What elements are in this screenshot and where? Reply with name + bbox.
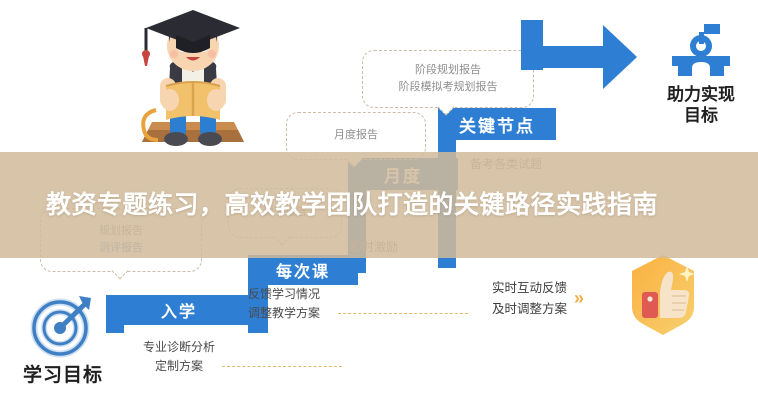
arrow-horizontal-shaft (521, 46, 603, 68)
graduate-student-reading-book-icon (118, 2, 268, 154)
note-dash-each-class (338, 313, 468, 314)
step-tread-each-class: 每次课 (248, 255, 358, 285)
graduation-building-icon (668, 22, 734, 78)
note-dash-enrollment (222, 366, 342, 367)
step-label-each-class: 每次课 (276, 258, 330, 282)
target-dartboard-icon (27, 292, 99, 358)
callout-line: 月度报告 (334, 127, 378, 144)
step-note-each-class: 反馈学习情况 调整教学方案 (248, 285, 388, 323)
feedback-label: 实时互动反馈 及时调整方案 (492, 278, 622, 319)
callout-line: 阶段规划报告 (415, 62, 481, 79)
arrow-head-icon (603, 25, 637, 89)
callout-line: 阶段模拟考规划报告 (399, 79, 498, 96)
thumbs-up-icon (620, 252, 706, 338)
goal-block: 助力实现 目标 (646, 22, 756, 127)
goal-label: 助力实现 目标 (667, 84, 735, 127)
step-label-enrollment: 入学 (161, 298, 197, 322)
callout-stage-report: 阶段规划报告 阶段模拟考规划报告 (362, 50, 534, 108)
title-overlay-band: 教资专题练习，高效教学团队打造的关键路径实践指南 (0, 152, 758, 258)
thumbs-up-badge (620, 252, 706, 338)
step-tread-key-node: 关键节点 (438, 108, 556, 140)
step-note-enrollment: 专业诊断分析 定制方案 (104, 338, 254, 376)
learning-goal-block: 学习目标 (8, 292, 118, 387)
feedback-chevron: » (574, 288, 584, 309)
step-tread-enrollment: 入学 (106, 295, 252, 325)
graduate-student-illustration (118, 2, 268, 159)
step-label-key-node: 关键节点 (459, 112, 535, 137)
learning-goal-label: 学习目标 (23, 360, 103, 387)
infographic-canvas: 关键节点 月度 每次课 入学 专业诊断分析 定制方案 反馈学习情况 调整教学方案… (0, 0, 758, 400)
page-title: 教资专题练习，高效教学团队打造的关键路径实践指南 (0, 188, 704, 223)
